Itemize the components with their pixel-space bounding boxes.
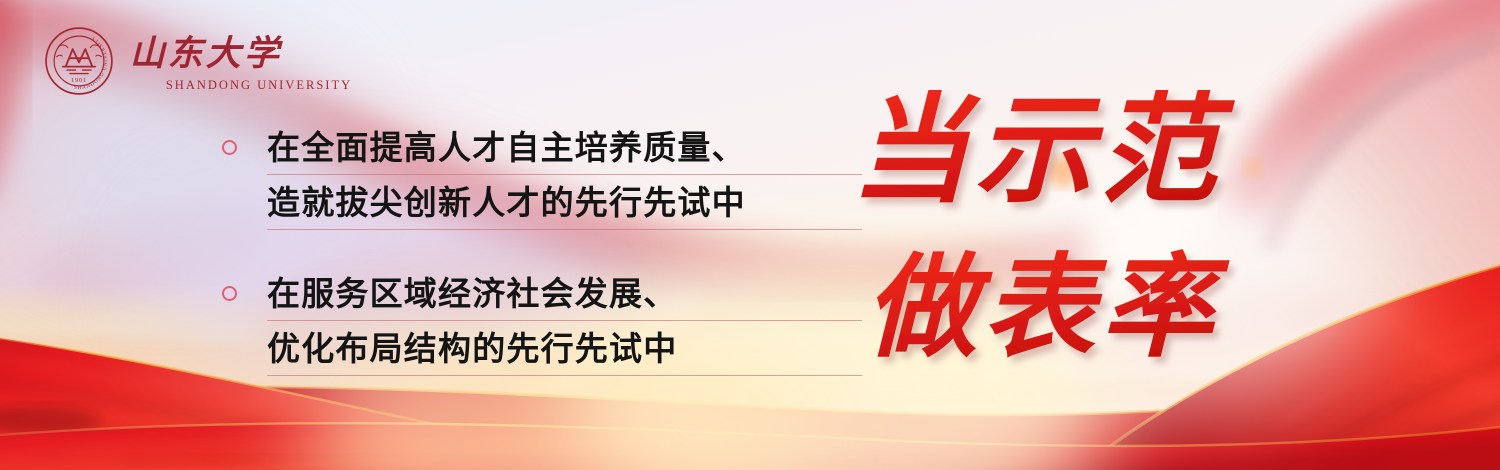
logo-wordmark: 山东大学 SHANDONG UNIVERSITY xyxy=(128,31,390,92)
logo-english-name: SHANDONG UNIVERSITY xyxy=(166,79,352,92)
message-block: 在全面提高人才自主培养质量、 造就拔尖创新人才的先行先试中 在服务区域经济社会发… xyxy=(222,126,862,376)
bullet-group-2: 在服务区域经济社会发展、 优化布局结构的先行先试中 xyxy=(222,272,862,376)
seal-year: 1901 xyxy=(71,77,87,84)
bullet-lines-2: 在服务区域经济社会发展、 优化布局结构的先行先试中 xyxy=(267,272,862,376)
shandong-university-banner: 1901 SHANDONG UNIVERSITY 山东大学 SHANDONG U… xyxy=(0,0,1500,470)
message-line: 在全面提高人才自主培养质量、 xyxy=(267,126,862,175)
slogan-line-2: 做表率 xyxy=(865,243,1230,373)
message-line: 优化布局结构的先行先试中 xyxy=(267,327,862,376)
slogan-line-1: 当示范 xyxy=(851,81,1235,219)
ring-bullet-icon xyxy=(222,140,237,155)
message-line: 造就拔尖创新人才的先行先试中 xyxy=(267,181,862,230)
ring-bullet-icon xyxy=(222,286,237,301)
message-line: 在服务区域经济社会发展、 xyxy=(267,272,862,321)
university-logo: 1901 SHANDONG UNIVERSITY 山东大学 SHANDONG U… xyxy=(44,26,390,96)
shandong-university-seal-icon: 1901 SHANDONG UNIVERSITY xyxy=(44,26,114,96)
bullet-lines-1: 在全面提高人才自主培养质量、 造就拔尖创新人才的先行先试中 xyxy=(267,126,862,230)
logo-chinese-name: 山东大学 xyxy=(128,31,390,77)
bullet-group-1: 在全面提高人才自主培养质量、 造就拔尖创新人才的先行先试中 xyxy=(222,126,862,230)
svg-text:山东大学: 山东大学 xyxy=(130,34,283,74)
slogan-calligraphy: 当示范 做表率 xyxy=(845,46,1265,416)
